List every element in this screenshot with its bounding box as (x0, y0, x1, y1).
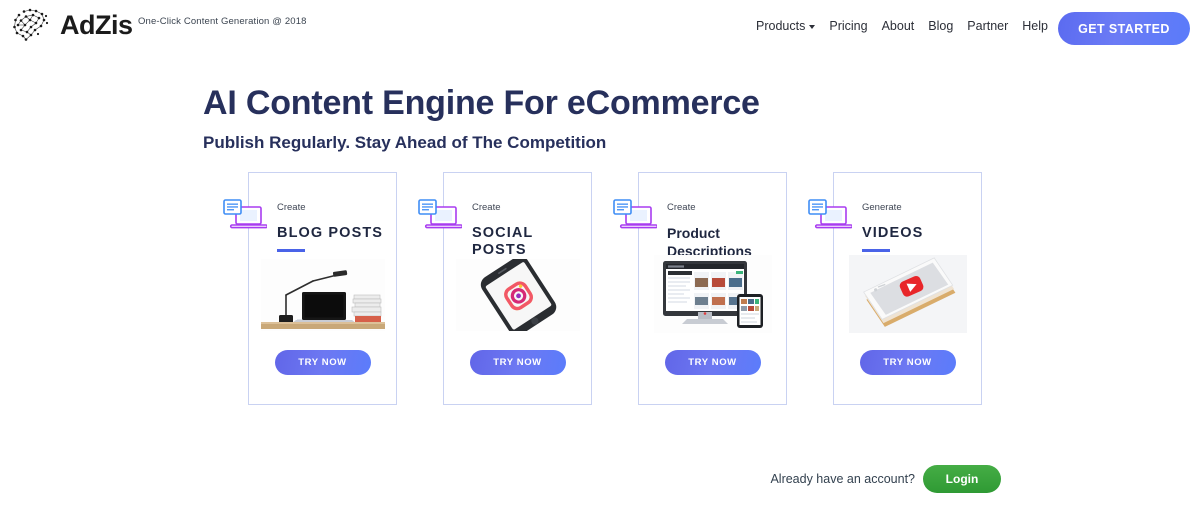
laptop-document-icon (223, 198, 267, 233)
brand-logo-group[interactable]: AdZis (10, 7, 133, 43)
card-kicker: Create (472, 202, 590, 213)
chevron-down-icon (809, 25, 815, 29)
card-image-monitor-tablet (654, 255, 772, 333)
page-title: AI Content Engine For eCommerce (203, 85, 760, 122)
brain-network-icon (10, 7, 56, 43)
card-text: Create BLOG POSTS (277, 202, 395, 252)
card-accent-rule (277, 249, 305, 252)
login-row: Already have an account? Login (770, 465, 1001, 493)
landing-page: AdZis One-Click Content Generation @ 201… (0, 0, 1200, 505)
card-kicker: Create (277, 202, 395, 213)
try-now-button-product-descriptions[interactable]: TRY NOW (665, 350, 761, 375)
card-kicker: Create (667, 202, 785, 213)
hero-section: AI Content Engine For eCommerce Publish … (203, 85, 760, 153)
nav-item-products[interactable]: Products (756, 19, 815, 33)
laptop-document-icon (418, 198, 462, 233)
card-image-phone-instagram (456, 259, 580, 331)
card-title: VIDEOS (862, 225, 980, 242)
try-now-button-videos[interactable]: TRY NOW (860, 350, 956, 375)
try-now-button-blog-posts[interactable]: TRY NOW (275, 350, 371, 375)
account-prompt: Already have an account? (770, 472, 915, 486)
card-title: SOCIAL POSTS (472, 225, 590, 258)
nav-label: Products (756, 19, 805, 33)
main-navigation: Products Pricing About Blog Partner Help (756, 19, 1048, 33)
card-text: Generate VIDEOS (862, 202, 980, 252)
card-text: Create Product Descriptions (667, 202, 785, 260)
brand-name: AdZis (60, 12, 133, 39)
page-subtitle: Publish Regularly. Stay Ahead of The Com… (203, 133, 760, 153)
header-tagline: One-Click Content Generation @ 2018 (138, 16, 307, 27)
nav-item-help[interactable]: Help (1022, 19, 1048, 33)
feature-card-grid: Create BLOG POSTS (248, 172, 982, 405)
feature-card-videos[interactable]: Generate VIDEOS (833, 172, 982, 405)
feature-card-product-descriptions[interactable]: Create Product Descriptions (638, 172, 787, 405)
card-accent-rule (862, 249, 890, 252)
laptop-document-icon (808, 198, 852, 233)
try-now-button-social-posts[interactable]: TRY NOW (470, 350, 566, 375)
feature-card-social-posts[interactable]: Create SOCIAL POSTS (443, 172, 592, 405)
laptop-document-icon (613, 198, 657, 233)
card-image-desk-laptop (261, 259, 385, 331)
feature-card-blog-posts[interactable]: Create BLOG POSTS (248, 172, 397, 405)
get-started-button[interactable]: GET STARTED (1058, 12, 1190, 45)
nav-item-about[interactable]: About (882, 19, 915, 33)
nav-item-pricing[interactable]: Pricing (829, 19, 867, 33)
card-image-phone-youtube (849, 255, 967, 333)
site-header: AdZis One-Click Content Generation @ 201… (0, 0, 1200, 57)
card-kicker: Generate (862, 202, 980, 213)
nav-item-partner[interactable]: Partner (967, 19, 1008, 33)
card-title: BLOG POSTS (277, 225, 395, 242)
login-button[interactable]: Login (923, 465, 1001, 493)
nav-item-blog[interactable]: Blog (928, 19, 953, 33)
